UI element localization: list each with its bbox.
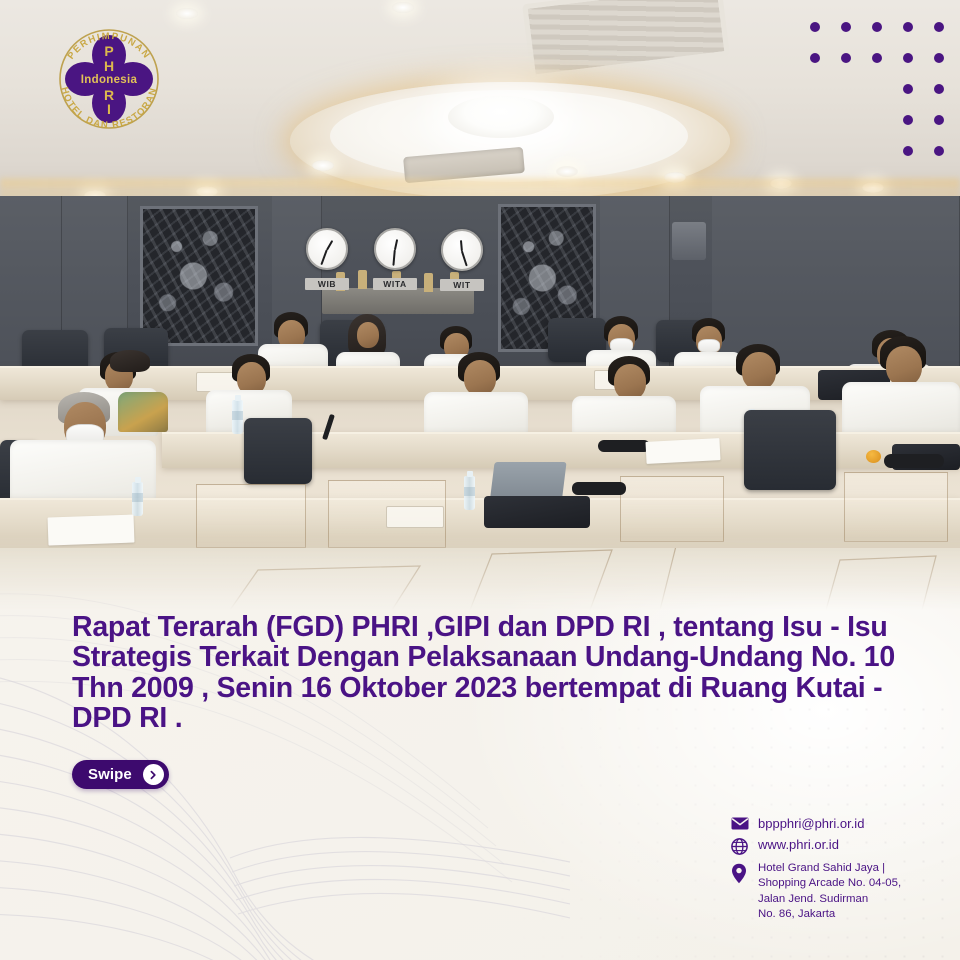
- phri-logo: P H R I Indonesia PERHIMPUNAN HOTEL DAN …: [48, 18, 170, 140]
- chevron-right-icon: [143, 764, 164, 785]
- trophy: [358, 270, 367, 289]
- downlight: [312, 160, 334, 171]
- contact-address-text: Hotel Grand Sahid Jaya | Shopping Arcade…: [758, 861, 901, 922]
- cove-light-strip: [0, 178, 960, 189]
- logo-letter-i: I: [107, 101, 111, 117]
- clock-label-wita: WITA: [373, 278, 417, 290]
- wall-speaker: [672, 222, 706, 260]
- chair: [244, 418, 312, 484]
- microphone-base: [572, 482, 626, 495]
- downlight: [392, 2, 414, 13]
- contact-website-row[interactable]: www.phri.or.id: [731, 837, 946, 855]
- desk-panel: [196, 484, 306, 548]
- snack-box: [386, 506, 444, 528]
- water-bottle: [132, 482, 143, 516]
- contact-website-text: www.phri.or.id: [758, 837, 839, 852]
- envelope-icon: [731, 816, 750, 830]
- trophy-shelf: [322, 288, 474, 314]
- chair: [744, 410, 836, 490]
- downlight: [176, 8, 198, 19]
- clock-label-wib: WIB: [305, 278, 349, 290]
- document: [48, 515, 135, 546]
- clock-minute-hand: [461, 251, 467, 267]
- desk-panel-lines: [0, 548, 960, 610]
- social-media-poster: WIB WITA WIT: [0, 0, 960, 960]
- dot-row: [810, 22, 944, 32]
- swipe-button[interactable]: Swipe: [72, 760, 169, 789]
- decorative-dot-pattern: [810, 22, 944, 177]
- contact-email-text: bppphri@phri.or.id: [758, 816, 864, 831]
- wall-clock-wita: [374, 228, 416, 270]
- clock-label-wit: WIT: [440, 279, 484, 291]
- water-bottle: [464, 476, 475, 510]
- dot-row: [810, 115, 944, 125]
- clock-hour-hand: [460, 240, 463, 251]
- dot-row: [810, 84, 944, 94]
- carved-wall-art-left: [140, 206, 258, 346]
- fruit: [866, 450, 881, 463]
- globe-icon: [731, 837, 750, 855]
- wall-clock-wib: [306, 228, 348, 270]
- logo-letter-p: P: [104, 43, 113, 59]
- dot-row: [810, 146, 944, 156]
- water-bottle: [232, 400, 243, 434]
- downlight: [556, 166, 578, 177]
- microphone-base: [884, 454, 944, 468]
- desk-front-row: [0, 498, 960, 550]
- laptop-bag: [484, 496, 590, 528]
- clock-minute-hand: [393, 250, 396, 266]
- contact-block: bppphri@phri.or.id www.phri.or.id: [731, 816, 946, 928]
- trophy: [424, 273, 433, 292]
- logo-letter-h: H: [104, 58, 114, 74]
- logo-indonesia-text: Indonesia: [81, 74, 138, 86]
- swipe-label: Swipe: [88, 766, 132, 783]
- microphone-base: [598, 440, 650, 452]
- contact-address-row: Hotel Grand Sahid Jaya | Shopping Arcade…: [731, 861, 946, 922]
- desk-panel: [620, 476, 724, 542]
- dot-row: [810, 53, 944, 63]
- wall-clock-wit: [441, 229, 483, 271]
- desk-panel: [844, 472, 948, 542]
- poster-title: Rapat Terarah (FGD) PHRI ,GIPI dan DPD R…: [72, 612, 902, 733]
- location-pin-icon: [731, 861, 750, 884]
- document: [645, 438, 720, 464]
- ceiling-light-fixture: [448, 96, 554, 138]
- clock-hour-hand: [394, 239, 398, 250]
- contact-email-row[interactable]: bppphri@phri.or.id: [731, 816, 946, 831]
- clock-minute-hand: [321, 250, 328, 266]
